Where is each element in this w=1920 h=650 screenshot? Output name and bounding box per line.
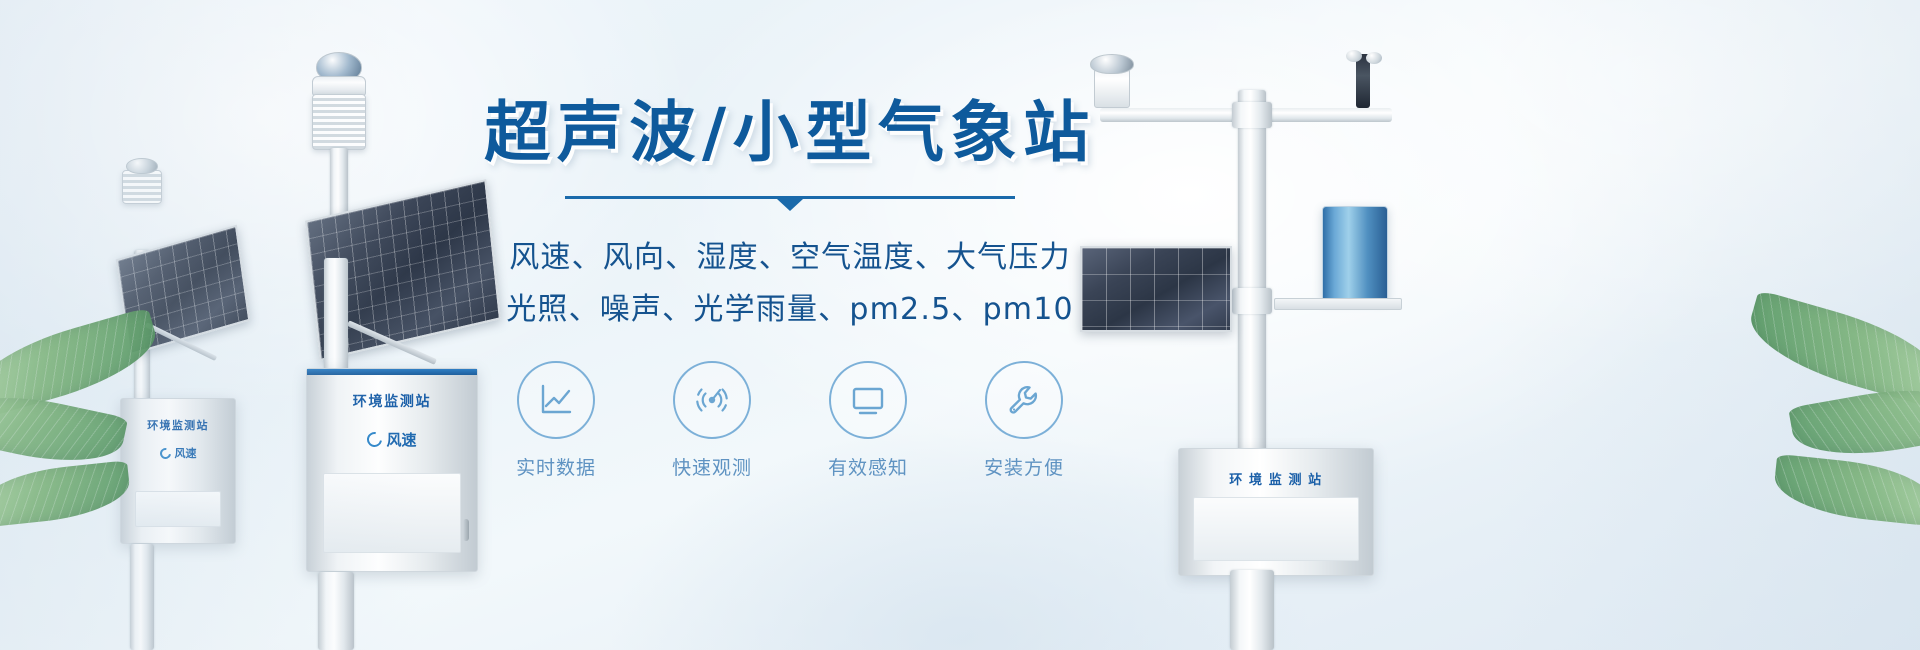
enclosure-latch-middle (463, 519, 469, 541)
mast-base-left (130, 544, 154, 650)
feature-label-4: 安装方便 (965, 453, 1083, 480)
subtitle-line-2: 光照、噪声、光学雨量、pm2.5、pm10 (430, 284, 1150, 336)
leaf-right-c (1772, 454, 1920, 526)
feature-label-1: 实时数据 (497, 453, 615, 480)
radiation-shield-middle (312, 94, 366, 150)
subtitle-line-1: 风速、风向、湿度、空气温度、大气压力 (430, 232, 1150, 284)
feature-ring-4 (985, 361, 1063, 439)
mast-collar-mid-right (1232, 288, 1272, 314)
anemometer-cup-a (1346, 50, 1362, 62)
optical-rain-gauge-right (1322, 206, 1388, 300)
brand-glyph-left (157, 445, 172, 460)
enclosure-label-left: 环境监测站 (130, 417, 226, 433)
banner-headline: 超声波/小型气象站 (430, 96, 1150, 170)
feature-label-2: 快速观测 (653, 453, 771, 480)
weather-station-left: 环境监测站 风速 (112, 150, 282, 650)
mast-base-middle (318, 572, 354, 650)
feature-ring-3 (829, 361, 907, 439)
monitor-icon (848, 380, 888, 420)
feature-item-effective-sensing[interactable]: 有效感知 (809, 361, 927, 480)
ultrasonic-dome-right (1090, 54, 1134, 74)
banner-content: 超声波/小型气象站 风速、风向、湿度、空气温度、大气压力 光照、噪声、光学雨量、… (430, 96, 1150, 480)
brand-mark-left: 风速 (121, 445, 235, 461)
brand-text-middle: 风速 (386, 429, 416, 450)
shield-cap-left (126, 158, 158, 174)
banner-subtitles: 风速、风向、湿度、空气温度、大气压力 光照、噪声、光学雨量、pm2.5、pm10 (430, 232, 1150, 335)
feature-item-easy-installation[interactable]: 安装方便 (965, 361, 1083, 480)
anemometer-cup-b (1366, 52, 1382, 64)
feature-ring-2 (673, 361, 751, 439)
mast-collar-upper-right (1232, 102, 1272, 128)
instrument-shelf-right (1274, 298, 1402, 310)
enclosure-label-right: 环 境 监 测 站 (1195, 469, 1358, 488)
enclosure-right: 环 境 监 测 站 (1178, 448, 1374, 576)
feature-label-3: 有效感知 (809, 453, 927, 480)
enclosure-door-seam-middle (323, 473, 461, 553)
radar-wave-icon (692, 380, 732, 420)
enclosure-door-seam-left (135, 491, 221, 527)
feature-item-realtime-data[interactable]: 实时数据 (497, 361, 615, 480)
enclosure-left: 环境监测站 风速 (120, 398, 236, 544)
feature-list: 实时数据 快速观测 (430, 361, 1150, 480)
headline-divider (565, 196, 1015, 210)
wrench-icon (1004, 380, 1044, 420)
brand-glyph-middle (365, 429, 386, 450)
mast-base-right (1230, 570, 1274, 650)
product-banner: 环境监测站 风速 环境监测站 风速 (0, 0, 1920, 650)
brand-text-left: 风速 (175, 445, 197, 461)
radiation-shield-left (122, 170, 162, 204)
feature-ring-1 (517, 361, 595, 439)
line-chart-icon (536, 380, 576, 420)
enclosure-door-seam-right (1193, 497, 1359, 561)
leaf-right-b (1788, 377, 1920, 467)
feature-item-fast-observation[interactable]: 快速观测 (653, 361, 771, 480)
ultrasonic-sensor-middle (312, 76, 366, 96)
down-triangle-icon (777, 199, 803, 211)
